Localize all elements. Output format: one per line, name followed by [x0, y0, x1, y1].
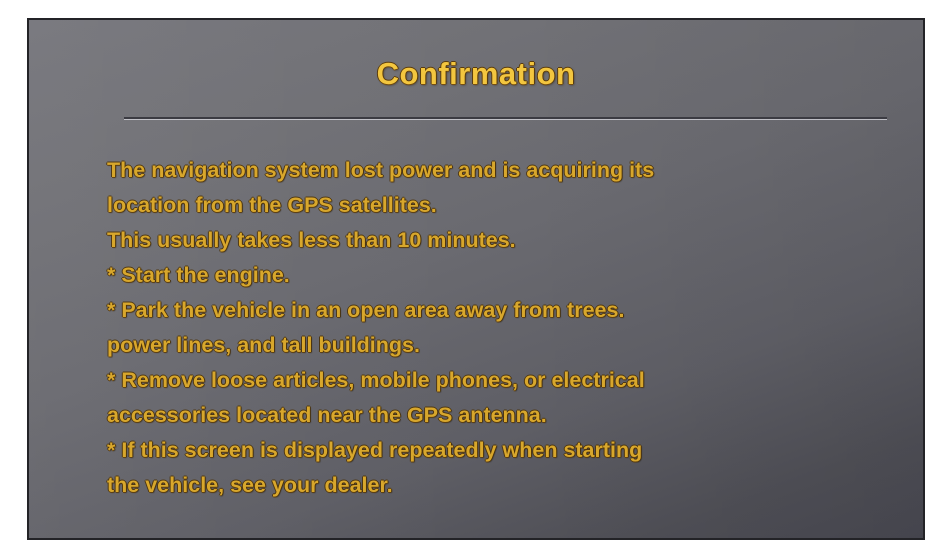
message-line: power lines, and tall buildings. [107, 328, 899, 363]
message-line: * Start the engine. [107, 258, 899, 293]
separator-highlight-line [124, 119, 887, 120]
message-line: the vehicle, see your dealer. [107, 468, 899, 503]
confirmation-dialog: Confirmation The navigation system lost … [27, 18, 925, 540]
message-line: * Remove loose articles, mobile phones, … [107, 363, 899, 398]
dialog-message-body: The navigation system lost power and is … [107, 153, 899, 503]
message-line: location from the GPS satellites. [107, 188, 899, 223]
screen-root: Confirmation The navigation system lost … [0, 0, 948, 555]
message-line: The navigation system lost power and is … [107, 153, 899, 188]
dialog-title-row: Confirmation [29, 56, 923, 92]
dialog-title: Confirmation [377, 56, 576, 92]
message-line: * Park the vehicle in an open area away … [107, 293, 899, 328]
message-line: This usually takes less than 10 minutes. [107, 223, 899, 258]
title-separator [124, 117, 887, 120]
message-line: * If this screen is displayed repeatedly… [107, 433, 899, 468]
message-line: accessories located near the GPS antenna… [107, 398, 899, 433]
